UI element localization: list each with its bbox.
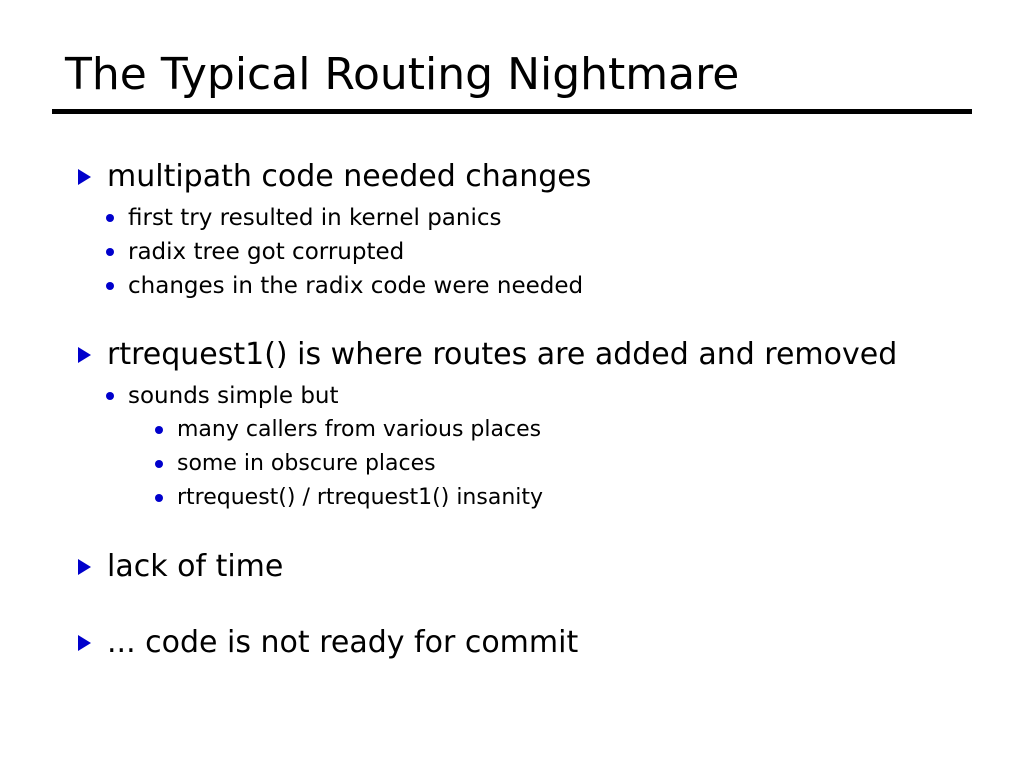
slide-title-block: The Typical Routing Nightmare [52,48,972,114]
bullet-level2: first try resulted in kernel panics [0,201,1024,235]
bullet-group-multipath: multipath code needed changes first try … [0,152,1024,303]
bullet-level2: changes in the radix code were needed [0,269,1024,303]
bullet-level2: sounds simple but [0,379,1024,413]
triangle-bullet-icon [78,559,91,575]
bullet-level1-label: multipath code needed changes [107,159,591,194]
bullet-level3: many callers from various places [0,413,1024,447]
bullet-level1-label: lack of time [107,549,283,584]
bullet-level1: ... code is not ready for commit [0,618,1024,667]
dot-bullet-icon [106,392,114,400]
bullet-group-rtrequest1: rtrequest1() is where routes are added a… [0,330,1024,515]
bullet-level2: radix tree got corrupted [0,235,1024,269]
bullet-level3-label: many callers from various places [177,417,541,442]
bullet-level1: rtrequest1() is where routes are added a… [0,330,1024,379]
triangle-bullet-icon [78,169,91,185]
bullet-level3-label: rtrequest() / rtrequest1() insanity [177,485,543,510]
bullet-group-lack-of-time: lack of time [0,542,1024,591]
dot-bullet-icon [106,214,114,222]
dot-bullet-icon [155,494,163,502]
dot-bullet-icon [106,248,114,256]
bullet-level1: multipath code needed changes [0,152,1024,201]
dot-bullet-icon [155,460,163,468]
bullet-level2-label: changes in the radix code were needed [128,273,583,299]
slide-canvas: The Typical Routing Nightmare multipath … [0,0,1024,768]
bullet-level3: rtrequest() / rtrequest1() insanity [0,481,1024,515]
bullet-level2-label: sounds simple but [128,383,339,409]
bullet-level1-label: ... code is not ready for commit [107,625,578,660]
bullet-level2-label: first try resulted in kernel panics [128,205,501,231]
slide-body: multipath code needed changes first try … [0,152,1024,667]
bullet-level1-label: rtrequest1() is where routes are added a… [107,337,897,372]
title-underline-rule [52,109,972,114]
bullet-group-not-ready: ... code is not ready for commit [0,618,1024,667]
bullet-level3: some in obscure places [0,447,1024,481]
triangle-bullet-icon [78,347,91,363]
bullet-level2-label: radix tree got corrupted [128,239,404,265]
dot-bullet-icon [106,282,114,290]
page-title: The Typical Routing Nightmare [52,48,972,102]
bullet-level3-label: some in obscure places [177,451,436,476]
dot-bullet-icon [155,426,163,434]
triangle-bullet-icon [78,635,91,651]
bullet-level1: lack of time [0,542,1024,591]
